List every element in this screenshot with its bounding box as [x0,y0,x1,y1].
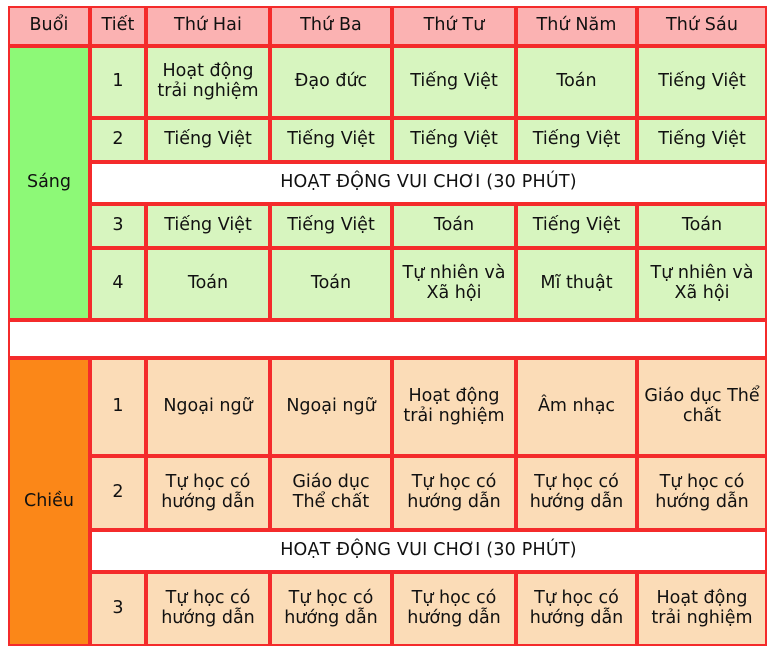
session-label-morning: Sáng [8,46,90,320]
subject-cell: Toán [637,204,767,248]
subject-cell: Tiếng Việt [516,204,637,248]
table-row-break: HOẠT ĐỘNG VUI CHƠI (30 PHÚT) [8,530,767,572]
subject-cell: Giáo dục Thể chất [637,358,767,456]
subject-cell: Âm nhạc [516,358,637,456]
table-row: Sáng 1 Hoạt động trải nghiệm Đạo đức Tiế… [8,46,767,118]
subject-cell: Đạo đức [270,46,392,118]
header-monday: Thứ Hai [146,6,270,46]
period-number: 1 [90,358,146,456]
subject-cell: Tự học có hướng dẫn [516,572,637,646]
header-tuesday: Thứ Ba [270,6,392,46]
break-row-morning: HOẠT ĐỘNG VUI CHƠI (30 PHÚT) [90,162,767,204]
header-friday: Thứ Sáu [637,6,767,46]
header-row: Buổi Tiết Thứ Hai Thứ Ba Thứ Tư Thứ Năm … [8,6,767,46]
table-row: 2 Tự học có hướng dẫn Giáo dục Thể chất … [8,456,767,530]
period-number: 3 [90,204,146,248]
table-row: Chiều 1 Ngoại ngữ Ngoại ngữ Hoạt động tr… [8,358,767,456]
subject-cell: Giáo dục Thể chất [270,456,392,530]
subject-cell: Tự học có hướng dẫn [146,456,270,530]
subject-cell: Tự học có hướng dẫn [392,572,516,646]
subject-cell: Tự nhiên và Xã hội [392,248,516,320]
table-row: 3 Tự học có hướng dẫn Tự học có hướng dẫ… [8,572,767,646]
subject-cell: Toán [392,204,516,248]
subject-cell: Tự nhiên và Xã hội [637,248,767,320]
subject-cell: Toán [146,248,270,320]
subject-cell: Toán [270,248,392,320]
subject-cell: Tiếng Việt [516,118,637,162]
table-header: Buổi Tiết Thứ Hai Thứ Ba Thứ Tư Thứ Năm … [8,6,767,46]
subject-cell: Hoạt động trải nghiệm [637,572,767,646]
subject-cell: Tiếng Việt [637,118,767,162]
subject-cell: Tự học có hướng dẫn [146,572,270,646]
period-number: 1 [90,46,146,118]
header-wednesday: Thứ Tư [392,6,516,46]
table-row: 4 Toán Toán Tự nhiên và Xã hội Mĩ thuật … [8,248,767,320]
weekly-schedule: Buổi Tiết Thứ Hai Thứ Ba Thứ Tư Thứ Năm … [8,6,767,646]
table-body: Sáng 1 Hoạt động trải nghiệm Đạo đức Tiế… [8,46,767,646]
subject-cell: Tiếng Việt [270,204,392,248]
spacer-cell [8,320,767,358]
subject-cell: Tiếng Việt [146,204,270,248]
table-row: 2 Tiếng Việt Tiếng Việt Tiếng Việt Tiếng… [8,118,767,162]
subject-cell: Tự học có hướng dẫn [637,456,767,530]
subject-cell: Tiếng Việt [637,46,767,118]
table-row-spacer [8,320,767,358]
break-row-afternoon: HOẠT ĐỘNG VUI CHƠI (30 PHÚT) [90,530,767,572]
subject-cell: Tự học có hướng dẫn [270,572,392,646]
subject-cell: Tự học có hướng dẫn [392,456,516,530]
subject-cell: Ngoại ngữ [146,358,270,456]
period-number: 4 [90,248,146,320]
period-number: 3 [90,572,146,646]
schedule-table: Buổi Tiết Thứ Hai Thứ Ba Thứ Tư Thứ Năm … [8,6,767,646]
subject-cell: Ngoại ngữ [270,358,392,456]
table-row: 3 Tiếng Việt Tiếng Việt Toán Tiếng Việt … [8,204,767,248]
subject-cell: Tiếng Việt [392,46,516,118]
subject-cell: Toán [516,46,637,118]
subject-cell: Tiếng Việt [146,118,270,162]
table-row-break: HOẠT ĐỘNG VUI CHƠI (30 PHÚT) [8,162,767,204]
header-period: Tiết [90,6,146,46]
subject-cell: Tiếng Việt [392,118,516,162]
period-number: 2 [90,456,146,530]
subject-cell: Mĩ thuật [516,248,637,320]
subject-cell: Tự học có hướng dẫn [516,456,637,530]
subject-cell: Hoạt động trải nghiệm [146,46,270,118]
header-session: Buổi [8,6,90,46]
session-label-afternoon: Chiều [8,358,90,646]
header-thursday: Thứ Năm [516,6,637,46]
subject-cell: Hoạt động trải nghiệm [392,358,516,456]
period-number: 2 [90,118,146,162]
subject-cell: Tiếng Việt [270,118,392,162]
